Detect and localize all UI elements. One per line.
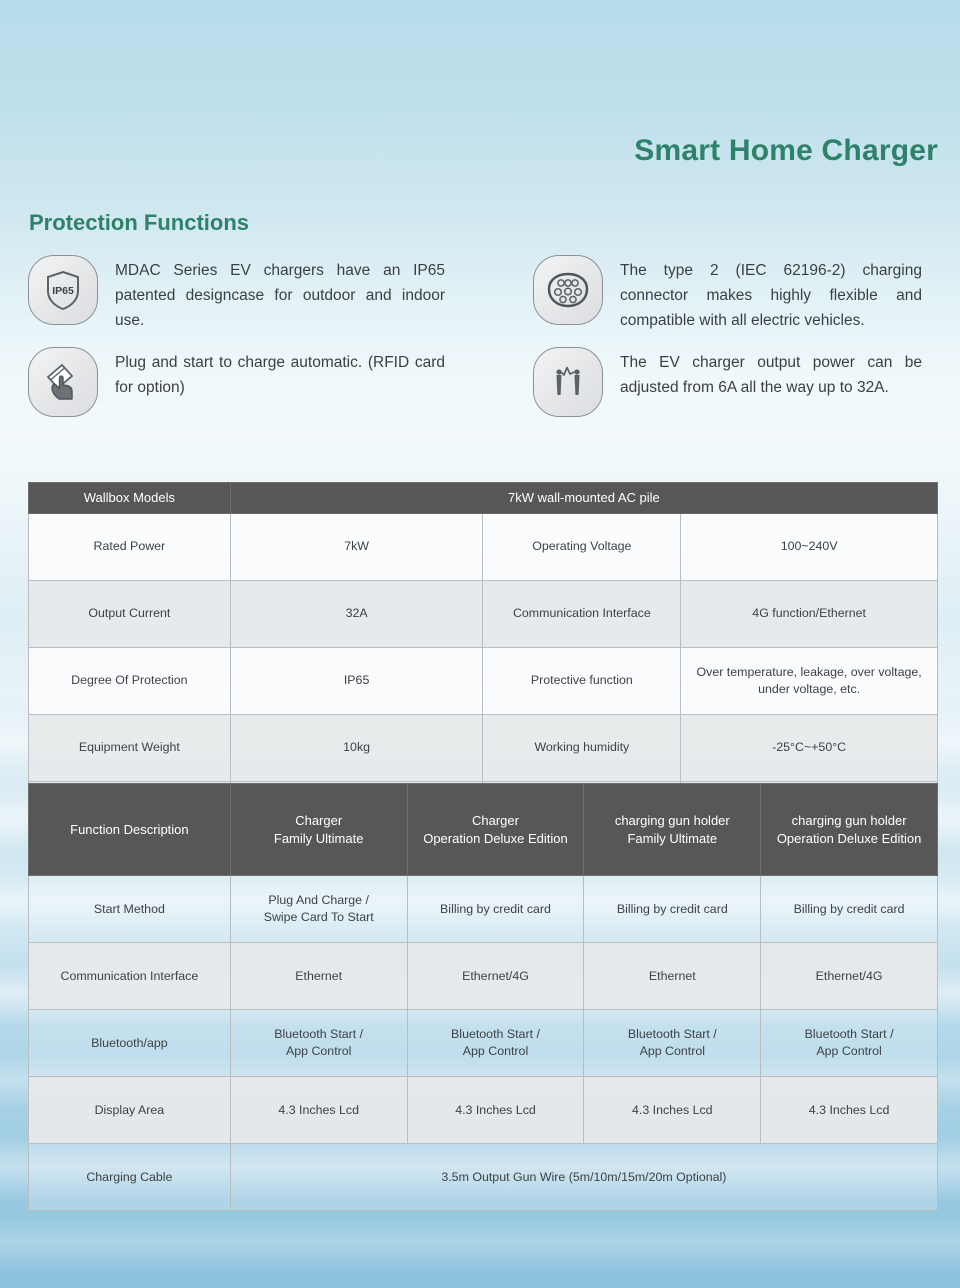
function-cell: Bluetooth Start /App Control	[584, 1010, 761, 1077]
table-row: Charging Cable 3.5m Output Gun Wire (5m/…	[29, 1144, 938, 1211]
function-cell: Billing by credit card	[761, 876, 938, 943]
spec-value: 4G function/Ethernet	[681, 580, 938, 647]
spec-value: Over temperature, leakage, over voltage,…	[681, 647, 938, 714]
spec-key: Equipment Weight	[29, 714, 231, 781]
table-row: Bluetooth/app Bluetooth Start /App Contr…	[29, 1010, 938, 1077]
feature-text: The EV charger output power can be adjus…	[620, 347, 922, 400]
page-title: Smart Home Charger	[634, 134, 938, 168]
feature-text: The type 2 (IEC 62196-2) charging connec…	[620, 255, 922, 333]
function-label: Display Area	[29, 1077, 231, 1144]
section-heading: Protection Functions	[29, 210, 249, 236]
spec-value: IP65	[230, 647, 483, 714]
spec-key: Protective function	[483, 647, 681, 714]
table-row: Display Area 4.3 Inches Lcd 4.3 Inches L…	[29, 1077, 938, 1144]
functions-header-3: charging gun holderFamily Ultimate	[584, 784, 761, 876]
function-cell: Ethernet	[230, 943, 407, 1010]
feature-text: Plug and start to charge automatic. (RFI…	[115, 347, 445, 400]
function-cell: Bluetooth Start /App Control	[761, 1010, 938, 1077]
function-cell: Billing by credit card	[407, 876, 584, 943]
spec-key: Degree Of Protection	[29, 647, 231, 714]
svg-text:IP65: IP65	[52, 285, 74, 297]
function-cell: 4.3 Inches Lcd	[230, 1077, 407, 1144]
table-row: Communication Interface Ethernet Etherne…	[29, 943, 938, 1010]
function-cell: 4.3 Inches Lcd	[407, 1077, 584, 1144]
functions-header-0: Function Description	[29, 784, 231, 876]
feature-text: MDAC Series EV chargers have an IP65 pat…	[115, 255, 445, 333]
table-row: Start Method Plug And Charge /Swipe Card…	[29, 876, 938, 943]
spec-key: Output Current	[29, 580, 231, 647]
function-cell: Bluetooth Start /App Control	[230, 1010, 407, 1077]
table-row: Degree Of Protection IP65 Protective fun…	[29, 647, 938, 714]
spec-key: Working humidity	[483, 714, 681, 781]
specs-header-value: 7kW wall-mounted AC pile	[230, 483, 937, 514]
spec-value: 32A	[230, 580, 483, 647]
table-row: Output Current 32A Communication Interfa…	[29, 580, 938, 647]
function-cell: Plug And Charge /Swipe Card To Start	[230, 876, 407, 943]
function-cell: Bluetooth Start /App Control	[407, 1010, 584, 1077]
table-row: Function Description ChargerFamily Ultim…	[29, 784, 938, 876]
function-label: Start Method	[29, 876, 231, 943]
rfid-card-swipe-icon	[28, 347, 98, 417]
function-label: Communication Interface	[29, 943, 231, 1010]
functions-table: Function Description ChargerFamily Ultim…	[28, 783, 938, 1211]
feature-item-type2: The type 2 (IEC 62196-2) charging connec…	[533, 255, 938, 333]
function-cell: 4.3 Inches Lcd	[584, 1077, 761, 1144]
spec-value: 7kW	[230, 513, 483, 580]
spec-value: 10kg	[230, 714, 483, 781]
function-cell: Ethernet	[584, 943, 761, 1010]
page-root: Smart Home Charger Protection Functions …	[0, 0, 960, 1288]
function-label: Bluetooth/app	[29, 1010, 231, 1077]
charging-cable-value: 3.5m Output Gun Wire (5m/10m/15m/20m Opt…	[230, 1144, 937, 1211]
feature-item-power-adjust: The EV charger output power can be adjus…	[533, 347, 938, 417]
functions-header-1: ChargerFamily Ultimate	[230, 784, 407, 876]
spec-key: Operating Voltage	[483, 513, 681, 580]
power-adjust-icon	[533, 347, 603, 417]
table-row: Equipment Weight 10kg Working humidity -…	[29, 714, 938, 781]
functions-header-2: ChargerOperation Deluxe Edition	[407, 784, 584, 876]
spec-key: Communication Interface	[483, 580, 681, 647]
feature-list: IP65 MDAC Series EV chargers have an IP6…	[28, 255, 938, 417]
table-row: Rated Power 7kW Operating Voltage 100~24…	[29, 513, 938, 580]
specs-header-label: Wallbox Models	[29, 483, 231, 514]
function-cell: 4.3 Inches Lcd	[761, 1077, 938, 1144]
type2-connector-icon	[533, 255, 603, 325]
spec-key: Rated Power	[29, 513, 231, 580]
function-label: Charging Cable	[29, 1144, 231, 1211]
ip65-shield-icon: IP65	[28, 255, 98, 325]
feature-item-ip65: IP65 MDAC Series EV chargers have an IP6…	[28, 255, 533, 333]
functions-header-4: charging gun holderOperation Deluxe Edit…	[761, 784, 938, 876]
table-row: Wallbox Models 7kW wall-mounted AC pile	[29, 483, 938, 514]
spec-value: -25°C~+50°C	[681, 714, 938, 781]
feature-item-rfid: Plug and start to charge automatic. (RFI…	[28, 347, 533, 417]
function-cell: Billing by credit card	[584, 876, 761, 943]
function-cell: Ethernet/4G	[407, 943, 584, 1010]
function-cell: Ethernet/4G	[761, 943, 938, 1010]
spec-value: 100~240V	[681, 513, 938, 580]
